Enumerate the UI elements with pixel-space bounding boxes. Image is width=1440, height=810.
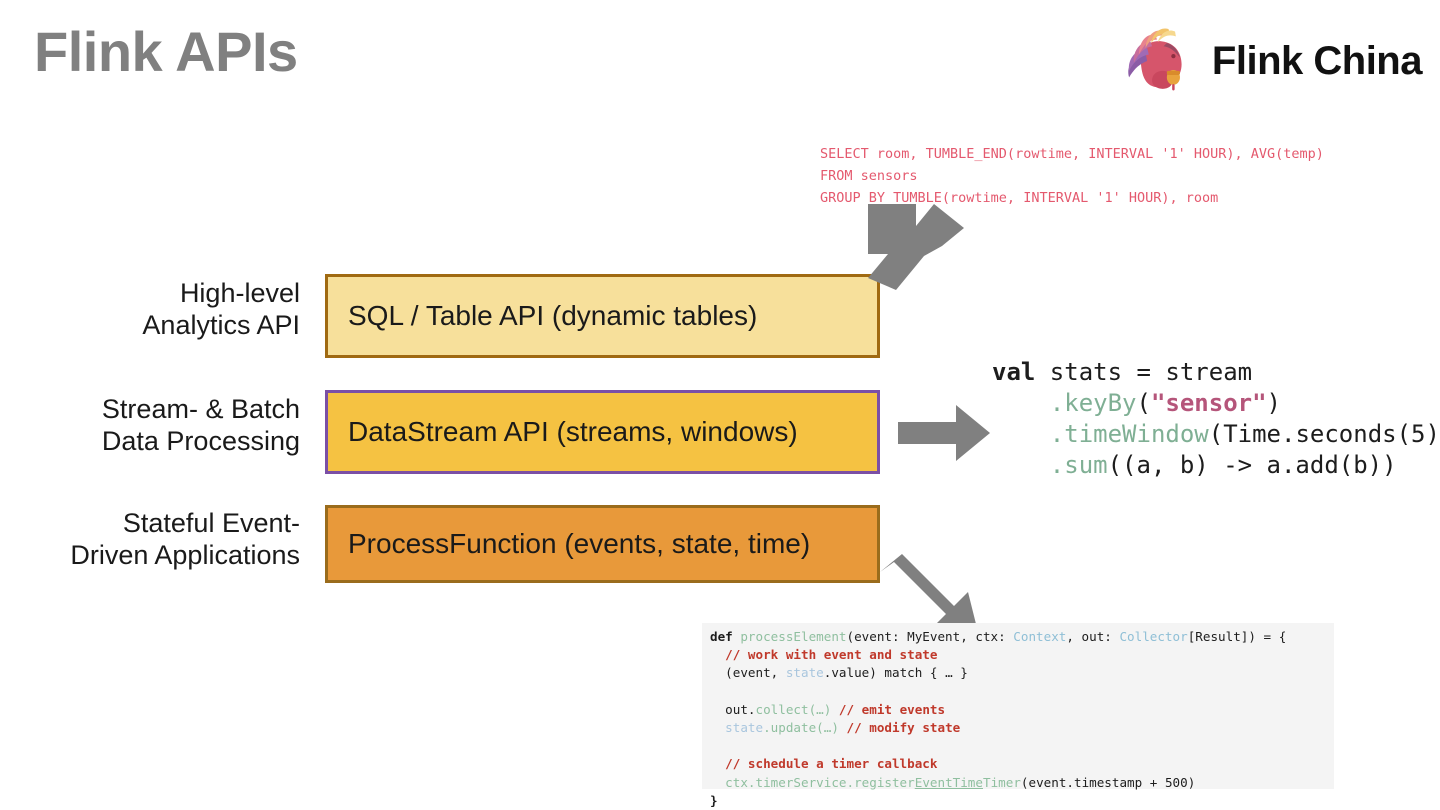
- code-token-comment: // modify state: [847, 720, 961, 735]
- code-token-type: Context: [1013, 629, 1066, 644]
- api-box-processfunction: ProcessFunction (events, state, time): [325, 505, 880, 583]
- api-box-sql-table: SQL / Table API (dynamic tables): [325, 274, 880, 358]
- code-token-keyword: def: [710, 629, 733, 644]
- code-token-text: (event,: [725, 665, 786, 680]
- code-token-type: Collector: [1119, 629, 1187, 644]
- tier-label-high-level-analytics: High-level Analytics API: [0, 278, 300, 341]
- page-title: Flink APIs: [34, 24, 298, 80]
- api-box-datastream: DataStream API (streams, windows): [325, 390, 880, 474]
- api-box-label: SQL / Table API (dynamic tables): [348, 300, 757, 332]
- code-token-text: [Result]) = {: [1188, 629, 1287, 644]
- code-sample-processfunction: def processElement(event: MyEvent, ctx: …: [710, 628, 1286, 810]
- code-token-keyword: val: [992, 358, 1035, 386]
- code-token-text: out.: [725, 702, 755, 717]
- code-token-comment: // work with event and state: [725, 647, 937, 662]
- code-sample-sql: SELECT room, TUMBLE_END(rowtime, INTERVA…: [820, 143, 1324, 209]
- code-token-variable: state: [725, 720, 763, 735]
- code-token-comment: // emit events: [839, 702, 945, 717]
- tier-label-line2: Analytics API: [0, 310, 300, 342]
- code-token-function: processElement: [733, 629, 847, 644]
- code-token-comment: // schedule a timer callback: [725, 756, 937, 771]
- code-token-text: .value) match { … }: [824, 665, 968, 680]
- flink-squirrel-logo: [1116, 20, 1198, 102]
- code-token-text: stats = stream: [1035, 358, 1252, 386]
- tier-label-line1: Stream- & Batch: [0, 394, 300, 426]
- code-sample-datastream: val stats = stream .keyBy("sensor") .tim…: [992, 357, 1440, 481]
- tier-label-line1: High-level: [0, 278, 300, 310]
- tier-label-stateful-event-driven: Stateful Event- Driven Applications: [0, 508, 300, 571]
- code-token-method: collect(…): [756, 702, 839, 717]
- tier-label-stream-batch: Stream- & Batch Data Processing: [0, 394, 300, 457]
- brand-name: Flink China: [1212, 39, 1422, 84]
- api-box-label: ProcessFunction (events, state, time): [348, 528, 810, 560]
- code-token-method: .timeWindow: [1050, 420, 1209, 448]
- arrow-to-datastream-example-icon: [898, 405, 990, 461]
- code-token-variable: state: [786, 665, 824, 680]
- tier-label-line1: Stateful Event-: [0, 508, 300, 540]
- code-token-text: (Time.seconds(5)): [1209, 420, 1440, 448]
- code-token-string: "sensor": [1151, 389, 1267, 417]
- api-box-label: DataStream API (streams, windows): [348, 416, 798, 448]
- code-token-text: Timer: [983, 775, 1021, 790]
- code-token-spellcheck: EventTime: [915, 775, 983, 790]
- tier-label-line2: Data Processing: [0, 426, 300, 458]
- tier-label-line2: Driven Applications: [0, 540, 300, 572]
- code-token-brace: }: [710, 793, 718, 808]
- code-token-text: ctx.timerService.register: [725, 775, 915, 790]
- arrow-to-sql-example-icon: [868, 204, 964, 290]
- brand-logo-group: Flink China: [1116, 20, 1422, 102]
- code-token-text: ((a, b) -> a.add(b)): [1108, 451, 1397, 479]
- code-token-text: (event.timestamp + 500): [1021, 775, 1195, 790]
- code-token-method: .sum: [1050, 451, 1108, 479]
- code-token-method: .keyBy: [1050, 389, 1137, 417]
- code-token-text: , out:: [1066, 629, 1119, 644]
- code-token-text: (event: MyEvent, ctx:: [846, 629, 1013, 644]
- code-token-method: .update(…): [763, 720, 846, 735]
